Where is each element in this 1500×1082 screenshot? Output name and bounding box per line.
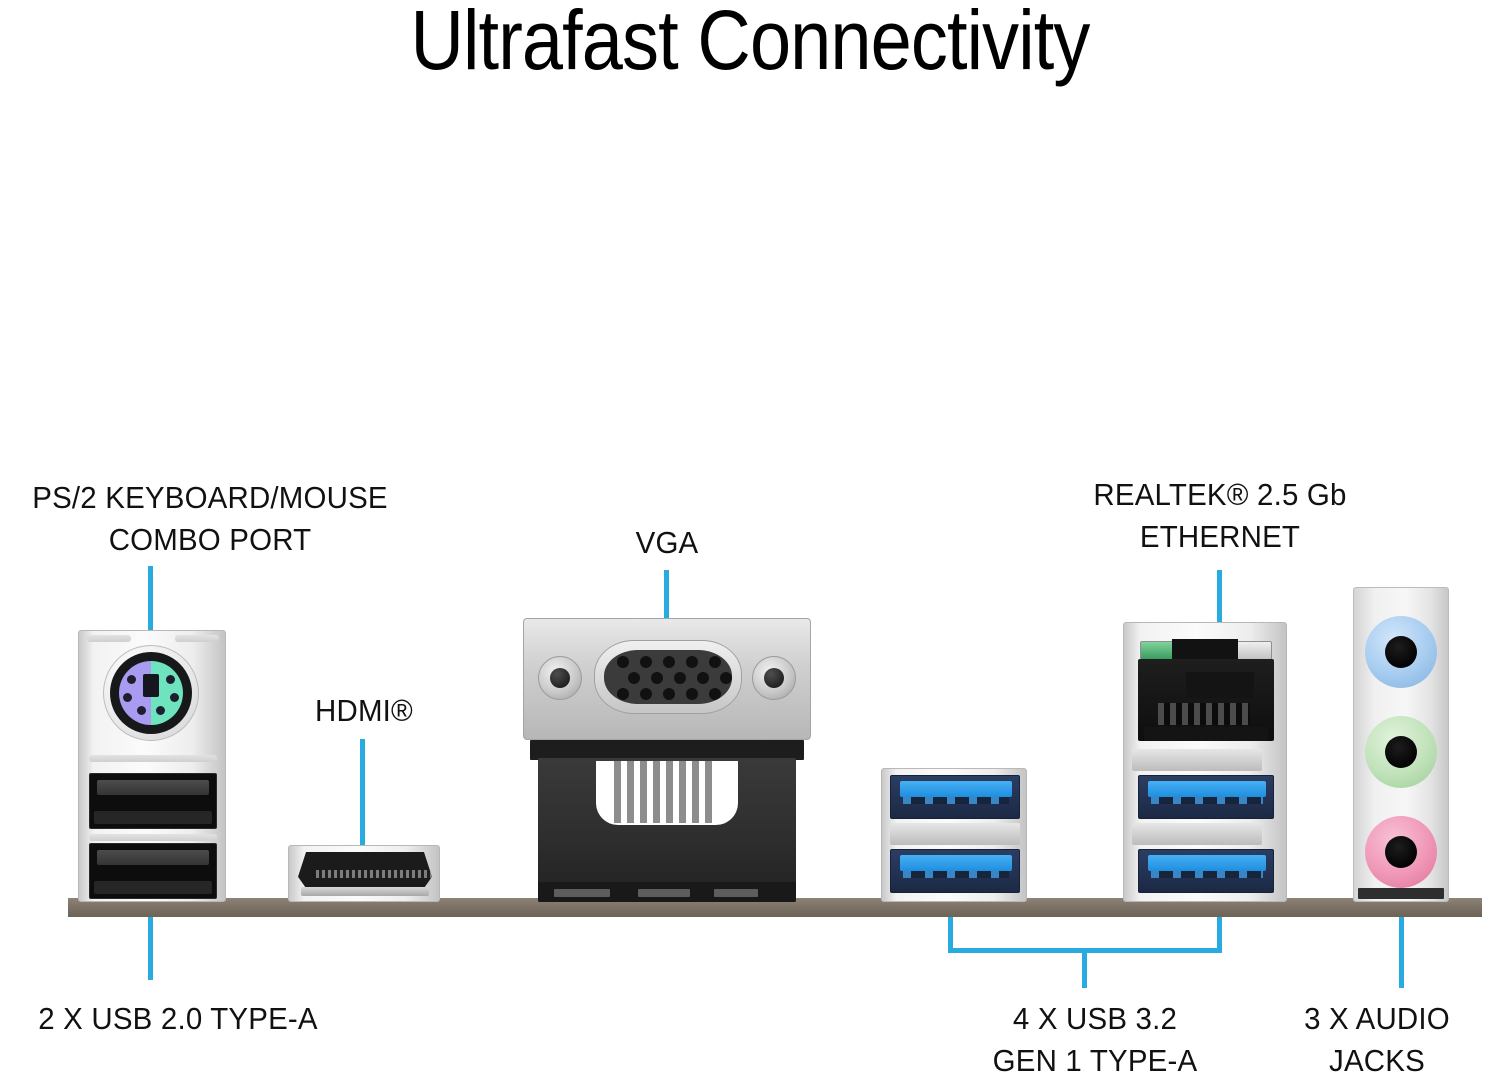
ps2-pin [137, 706, 146, 715]
vga-pin [628, 672, 640, 684]
audio-jack-microphone[interactable] [1365, 816, 1437, 888]
label-usb3-line1: 4 X USB 3.2 [919, 998, 1271, 1040]
ps2-pin [156, 706, 165, 715]
hdmi-port[interactable] [288, 845, 440, 902]
usb3-tongue [1148, 855, 1266, 871]
usb2-floor [94, 881, 212, 894]
label-ethernet: REALTEK® 2.5 Gb ETHERNET [1011, 474, 1429, 558]
vga-pin [617, 688, 629, 700]
usb2-tongue [97, 780, 209, 795]
vga-body-footer [538, 882, 796, 902]
usb2-floor [94, 811, 212, 824]
usb3-contacts [903, 797, 1009, 804]
usb3-divider [890, 823, 1020, 845]
usb2-port-lower[interactable] [89, 843, 217, 899]
io-panel-diagram: Ultrafast Connectivity PS/2 KEYBOARD/MOU… [0, 0, 1500, 1082]
ps2-port[interactable] [103, 645, 199, 741]
hdmi-port-cavity [298, 852, 432, 892]
vga-screw-left [538, 656, 582, 700]
vga-body [538, 758, 796, 902]
label-audio-line1: 3 X AUDIO [1251, 998, 1500, 1040]
label-vga: VGA [553, 522, 781, 564]
usb3-port-lan-lower[interactable] [1138, 849, 1274, 893]
leader-line-usb3-drop [1082, 948, 1087, 988]
ps2-pin [127, 675, 136, 684]
audio-jack-line-in[interactable] [1365, 616, 1437, 688]
page-title: Ultrafast Connectivity [90, 0, 1410, 89]
vga-pin [686, 688, 698, 700]
ps2-pin [166, 675, 175, 684]
vga-pin [617, 656, 629, 668]
vga-pin [640, 656, 652, 668]
label-usb2: 2 X USB 2.0 TYPE-A [0, 998, 406, 1040]
label-usb3: 4 X USB 3.2 GEN 1 TYPE-A [919, 998, 1271, 1082]
vga-screw-right [752, 656, 796, 700]
vga-dsub-shell [594, 640, 742, 714]
ps2-port-bezel [110, 652, 192, 734]
ps2-key-slot [143, 674, 159, 697]
label-usb3-line2: GEN 1 TYPE-A [919, 1040, 1271, 1082]
label-ethernet-line1: REALTEK® 2.5 Gb [1011, 474, 1429, 516]
vga-pin [709, 688, 721, 700]
vga-pcb-chip [554, 889, 610, 897]
chassis-seam-right [175, 635, 219, 642]
audio-jack-line-out[interactable] [1365, 716, 1437, 788]
usb3-contacts [1151, 871, 1263, 878]
label-ps2-line2: COMBO PORT [0, 519, 476, 561]
usb3-tongue [900, 781, 1012, 797]
usb3-tongue [1148, 781, 1266, 797]
chassis-seam-left [87, 635, 131, 642]
ps2-usb2-port-stack[interactable] [78, 630, 226, 902]
audio-jack-stack[interactable] [1353, 587, 1449, 902]
audio-stack-foot [1358, 888, 1444, 899]
vga-pcb-chip [714, 889, 758, 897]
vga-pin [686, 656, 698, 668]
vga-pin [709, 656, 721, 668]
label-audio: 3 X AUDIO JACKS [1251, 998, 1500, 1082]
lan-divider-lower [1132, 823, 1262, 845]
label-audio-line2: JACKS [1251, 1040, 1500, 1082]
rj45-notch [1186, 672, 1254, 698]
vga-body-top [530, 740, 804, 760]
usb3-contacts [1151, 797, 1263, 804]
vga-pin [640, 688, 652, 700]
audio-jack-hole [1385, 836, 1417, 868]
label-hdmi: HDMI® [252, 690, 476, 732]
rj45-base [1144, 727, 1268, 741]
vga-dsub-cavity [604, 650, 732, 704]
vga-pin [697, 672, 709, 684]
usb3-contacts [903, 871, 1009, 878]
ethernet-speed-led [1236, 641, 1272, 660]
hdmi-contacts [316, 870, 432, 878]
vga-pin [663, 656, 675, 668]
usb2-port-upper[interactable] [89, 773, 217, 829]
label-ps2: PS/2 KEYBOARD/MOUSE COMBO PORT [0, 477, 476, 561]
rj45-contacts [1158, 703, 1250, 725]
usb3-port-lan-upper[interactable] [1138, 775, 1274, 819]
vga-port[interactable] [520, 618, 814, 902]
label-ps2-line1: PS/2 KEYBOARD/MOUSE [0, 477, 476, 519]
vga-body-ribs [614, 761, 718, 823]
vga-pin [720, 672, 732, 684]
ethernet-usb3-port-stack[interactable] [1123, 622, 1287, 902]
audio-jack-hole [1385, 736, 1417, 768]
vga-pin [651, 672, 663, 684]
ps2-pin [123, 693, 132, 702]
usb3-tongue [900, 855, 1012, 871]
hdmi-shell-bar [301, 887, 429, 896]
ethernet-activity-led [1140, 641, 1176, 660]
usb3-port-upper[interactable] [890, 775, 1020, 819]
audio-jack-hole [1385, 636, 1417, 668]
vga-pcb-chip [638, 889, 690, 897]
usb3-port-stack-center[interactable] [881, 768, 1027, 902]
label-ethernet-line2: ETHERNET [1011, 516, 1429, 558]
vga-pin [674, 672, 686, 684]
chassis-seam-lower [89, 834, 217, 841]
usb3-port-lower[interactable] [890, 849, 1020, 893]
chassis-seam-mid [89, 755, 217, 762]
vga-pin [663, 688, 675, 700]
ps2-pin [170, 693, 179, 702]
lan-divider-upper [1132, 749, 1262, 771]
usb2-tongue [97, 850, 209, 865]
